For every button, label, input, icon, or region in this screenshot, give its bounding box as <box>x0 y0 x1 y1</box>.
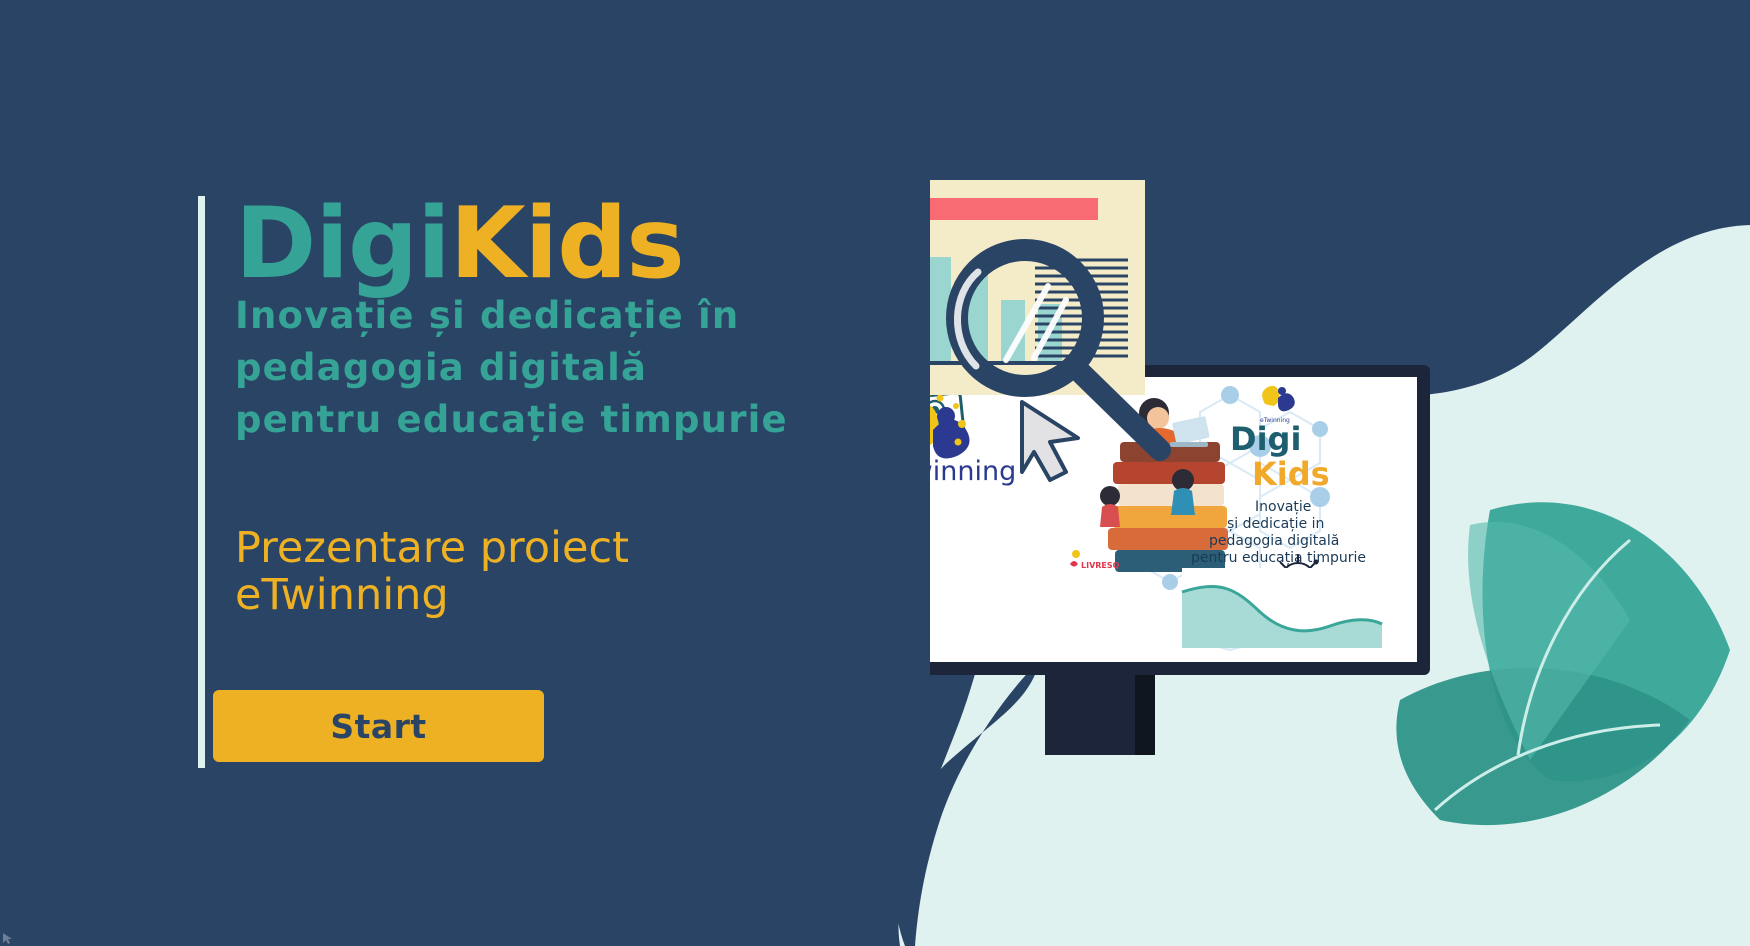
title-part-digi: Digi <box>235 187 450 301</box>
poster-tag-2: și dedicație in <box>1227 516 1324 532</box>
kicker-line-2: eTwinning <box>235 572 629 619</box>
poster-brand-digi: Digi <box>1230 420 1301 458</box>
hero-kicker: Prezentare proiect eTwinning <box>235 525 629 620</box>
poster-tag-3: pedagogia digitală <box>1209 533 1339 549</box>
subtitle-line-2: pedagogia digitală <box>235 346 958 398</box>
hero-illustration: Digi Kids Inovație și dedicație in pedag… <box>930 180 1750 946</box>
poster-tag-4: pentru educația timpurie <box>1191 550 1366 566</box>
subtitle-line-3: pentru educație timpurie <box>235 398 958 450</box>
leaf-decoration <box>1396 502 1730 825</box>
presentation-slide: DigiKids Inovație și dedicație în pedago… <box>0 0 1750 946</box>
kicker-line-1: Prezentare proiect <box>235 525 629 572</box>
page-title: DigiKids <box>235 196 958 292</box>
poster-brand-kids: Kids <box>1252 455 1330 493</box>
etwinning-mini-label: eTwinning <box>1260 417 1290 424</box>
child-sitting <box>1100 486 1120 527</box>
report-headline-bar <box>930 198 1098 220</box>
hero-text-column: DigiKids Inovație și dedicație în pedago… <box>198 196 958 768</box>
livresq-label: LIVRESQ <box>1081 561 1120 570</box>
poster-tag-1: Inovație <box>1255 499 1311 515</box>
area-chart-widget <box>1182 568 1382 648</box>
hero-subtitle: Inovație și dedicație în pedagogia digit… <box>235 294 958 450</box>
etwinning-logo-label: eTwinning <box>930 456 1016 487</box>
subtitle-line-1: Inovație și dedicație în <box>235 294 958 346</box>
child-reaching <box>1171 469 1195 515</box>
monitor-stand-shadow <box>1135 675 1155 755</box>
cursor-artifact-icon <box>2 932 18 945</box>
title-part-kids: Kids <box>450 187 684 301</box>
start-button[interactable]: Start <box>213 690 544 762</box>
